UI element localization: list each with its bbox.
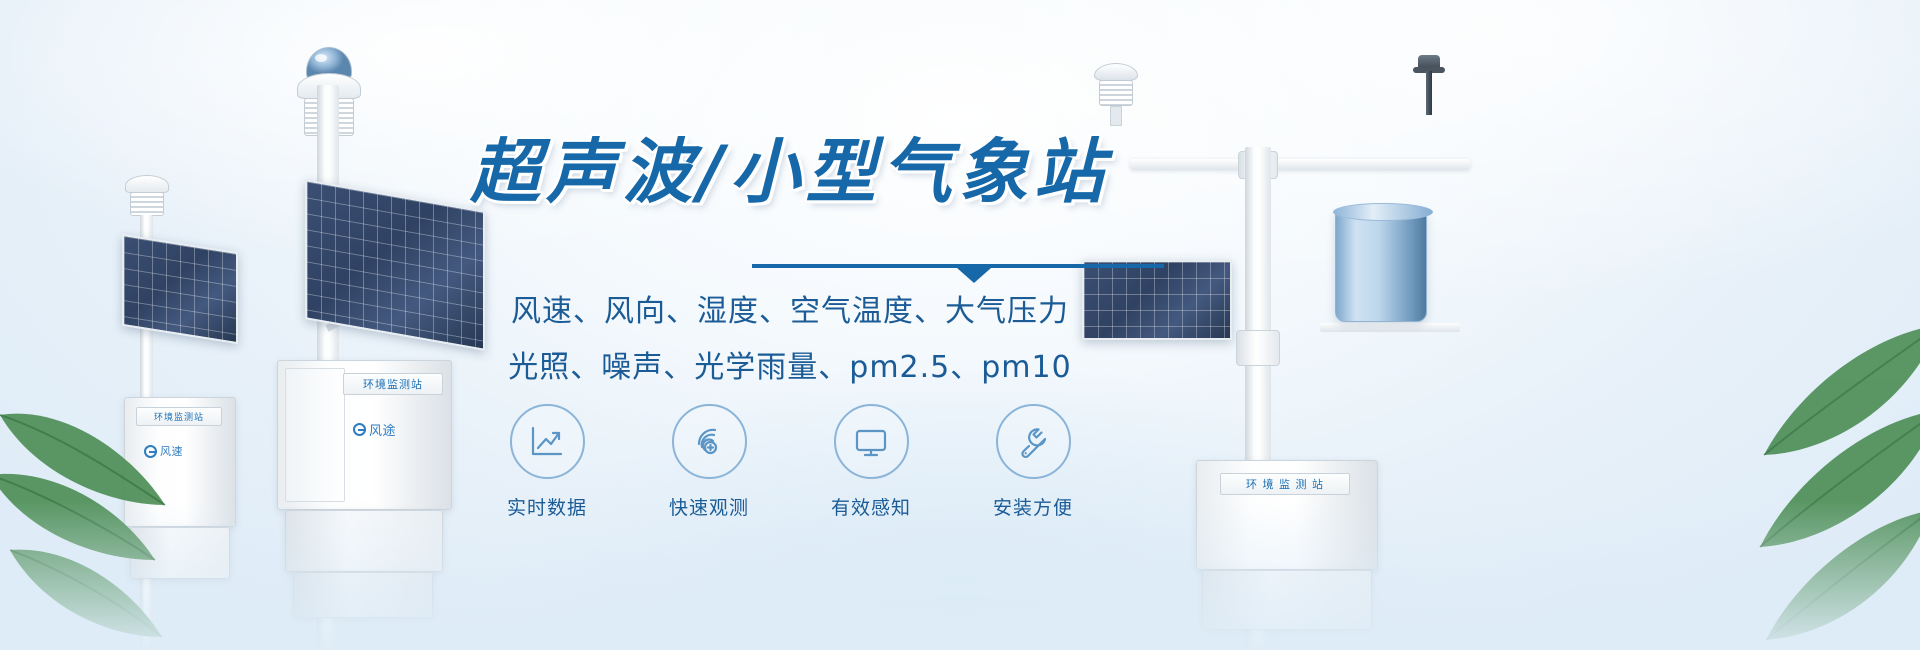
feature-label: 有效感知 <box>831 493 911 520</box>
subtitle-line-2: 光照、噪声、光学雨量、pm2.5、pm10 <box>440 340 1140 396</box>
chart-line-icon <box>510 404 585 479</box>
feature-label: 实时数据 <box>507 493 587 520</box>
wrench-icon <box>996 404 1071 479</box>
product-banner: 环境监测站 风速 环境监测站 风途 <box>0 0 1920 650</box>
subtitle-block: 风速、风向、湿度、空气温度、大气压力 光照、噪声、光学雨量、pm2.5、pm10 <box>440 284 1140 396</box>
subtitle-line-1: 风速、风向、湿度、空气温度、大气压力 <box>440 284 1140 340</box>
feature-item-effective-sensing[interactable]: 有效感知 <box>811 404 931 520</box>
feature-list: 实时数据 快速观测 <box>440 404 1140 520</box>
monitor-icon <box>834 404 909 479</box>
feature-item-realtime-data[interactable]: 实时数据 <box>487 404 607 520</box>
feature-item-fast-observation[interactable]: 快速观测 <box>649 404 769 520</box>
page-title: 超声波/小型气象站 <box>440 116 1140 217</box>
radar-signal-icon <box>672 404 747 479</box>
feature-item-easy-install[interactable]: 安装方便 <box>973 404 1093 520</box>
feature-label: 快速观测 <box>669 493 749 520</box>
feature-label: 安装方便 <box>993 493 1073 520</box>
banner-content: 超声波/小型气象站 风速、风向、湿度、空气温度、大气压力 光照、噪声、光学雨量、… <box>0 0 1920 650</box>
title-divider <box>752 264 1164 268</box>
